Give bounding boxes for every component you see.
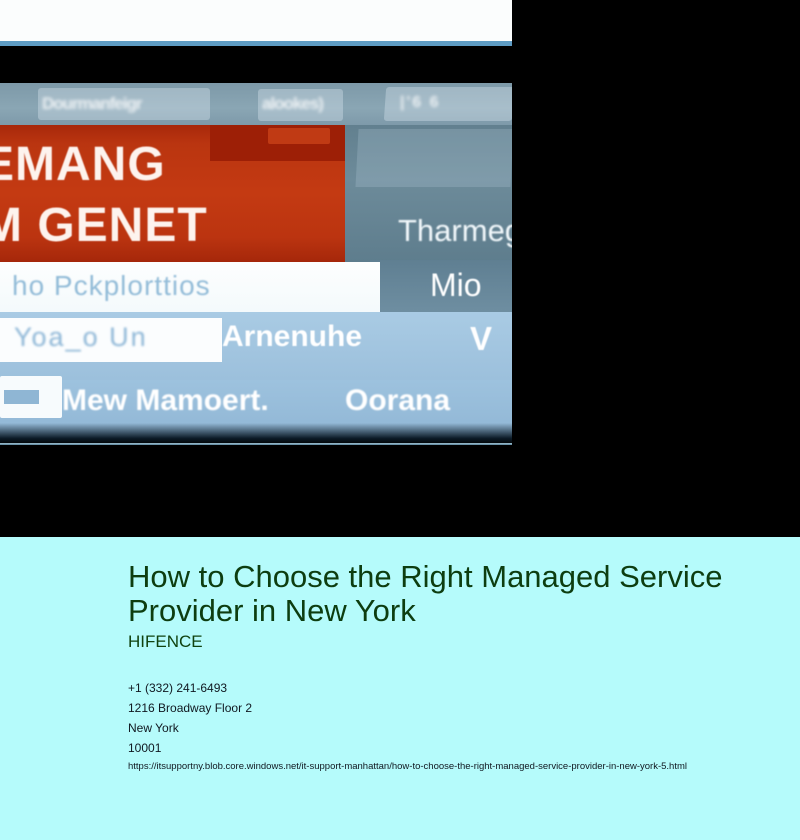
red-banner-line-2: M GENET xyxy=(0,198,208,253)
row-3-middle-text: Oorana xyxy=(345,384,450,418)
pictured-toolbar: Dourmanfeigr alookes) |'6 6 xyxy=(0,83,512,125)
pictured-list-rows: ho Pckplorttios Mio Yoa_o Un Arnenuhe V … xyxy=(0,262,512,445)
contact-phone: +1 (332) 241-6493 xyxy=(128,678,252,698)
contact-street: 1216 Broadway Floor 2 xyxy=(128,698,252,718)
article-url[interactable]: https://itsupportny.blob.core.windows.ne… xyxy=(128,761,687,772)
screen-photo: Dourmanfeigr alookes) |'6 6 EMANG M GENE… xyxy=(0,83,512,445)
contact-city: New York xyxy=(128,718,252,738)
row-2-middle-text: Arnenuhe xyxy=(222,320,362,354)
brand-name: HIFENCE xyxy=(128,632,203,652)
toolbar-text-2: alookes) xyxy=(262,94,323,114)
right-panel-label: Tharmeg xyxy=(398,213,512,249)
hero-bottom-letterbox xyxy=(0,445,512,537)
row-3-chip-inner xyxy=(4,390,39,404)
page-title: How to Choose the Right Managed Service … xyxy=(128,560,778,628)
red-banner-line-1: EMANG xyxy=(0,137,166,192)
hero-top-letterbox xyxy=(0,46,512,83)
row-1-left-text: ho Pckplorttios xyxy=(12,270,211,302)
toolbar-text-1: Dourmanfeigr xyxy=(42,94,141,114)
row-3-left-text: Mew Mamoert. xyxy=(62,384,269,418)
hero-image: Dourmanfeigr alookes) |'6 6 EMANG M GENE… xyxy=(0,0,800,537)
row-2-left-text: Yoa_o Un xyxy=(14,322,148,353)
hero-top-white-band xyxy=(0,0,512,41)
red-banner-highlight xyxy=(268,128,330,144)
row-1-right-text: Mio xyxy=(430,267,482,304)
article-block: How to Choose the Right Managed Service … xyxy=(0,537,800,840)
row-2-right-text: V xyxy=(470,320,492,358)
photo-bottom-fade xyxy=(0,423,512,445)
contact-zip: 10001 xyxy=(128,738,252,758)
toolbar-text-3: |'6 6 xyxy=(400,94,441,112)
right-panel-sheet xyxy=(355,129,512,187)
contact-block: +1 (332) 241-6493 1216 Broadway Floor 2 … xyxy=(128,678,252,758)
